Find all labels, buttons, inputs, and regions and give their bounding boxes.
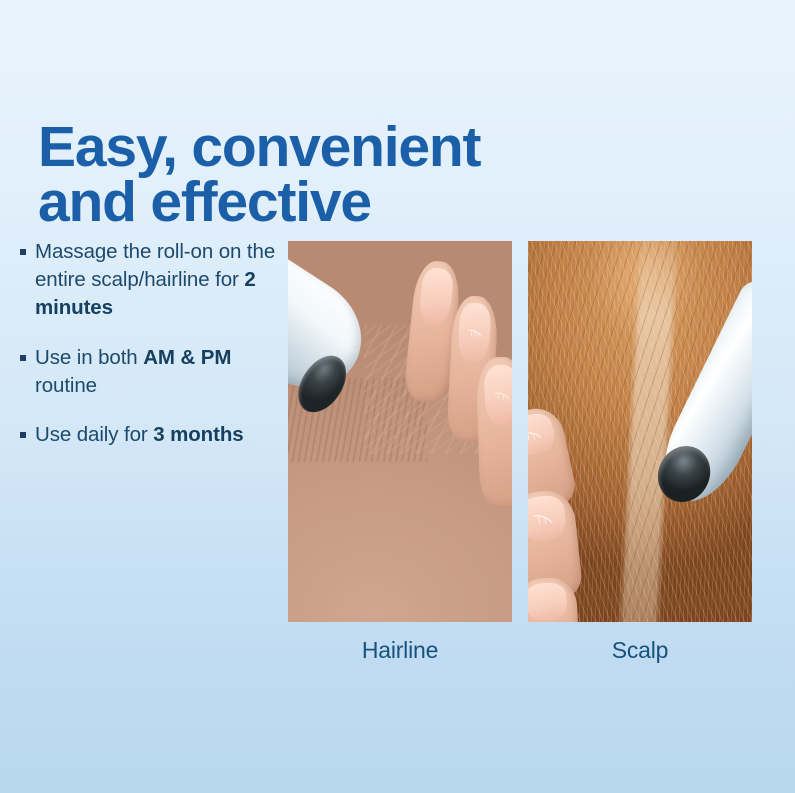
instruction-text-bold: AM & PM [143,346,231,369]
list-item: Use daily for 3 months [20,421,292,449]
photo-scalp [528,241,752,622]
instruction-text-before: Use in both [35,346,143,369]
bullet-square-icon [20,355,26,361]
fingernail [458,303,492,363]
fingernail [528,410,557,458]
finger [475,356,512,509]
fingernail [418,267,454,326]
list-item: Use in both AM & PM routine [20,344,292,400]
leaf-nail-art-icon [528,426,544,445]
page-title: Easy, convenient and effective [38,120,598,229]
instruction-text: Use daily for 3 months [35,421,244,449]
caption-hairline: Hairline [288,637,512,664]
leaf-nail-art-icon [492,385,510,407]
leaf-nail-art-icon [530,510,555,528]
instruction-list: Massage the roll-on on the entire scalp/… [20,238,292,471]
headline-line-2: and effective [38,175,598,230]
bullet-square-icon [20,249,26,255]
hand-fingers [400,256,512,507]
headline-line-1: Easy, convenient [38,120,598,175]
bullet-square-icon [20,432,26,438]
fingernail [528,582,568,622]
hand-fingers [528,409,622,622]
instruction-text-before: Use daily for [35,423,153,446]
fingernail [483,364,512,425]
fingernail [528,494,567,542]
leaf-nail-art-icon [466,323,483,345]
instruction-text: Massage the roll-on on the entire scalp/… [35,238,292,322]
instruction-text-before: Massage the roll-on on the entire scalp/… [35,240,275,291]
caption-scalp: Scalp [528,637,752,664]
instruction-text-after: routine [35,374,97,397]
instruction-text-bold: 3 months [153,423,243,446]
photo-hairline: vise [288,241,512,622]
instruction-text: Use in both AM & PM routine [35,344,292,400]
list-item: Massage the roll-on on the entire scalp/… [20,238,292,322]
infographic-canvas: Easy, convenient and effective Massage t… [0,0,795,793]
